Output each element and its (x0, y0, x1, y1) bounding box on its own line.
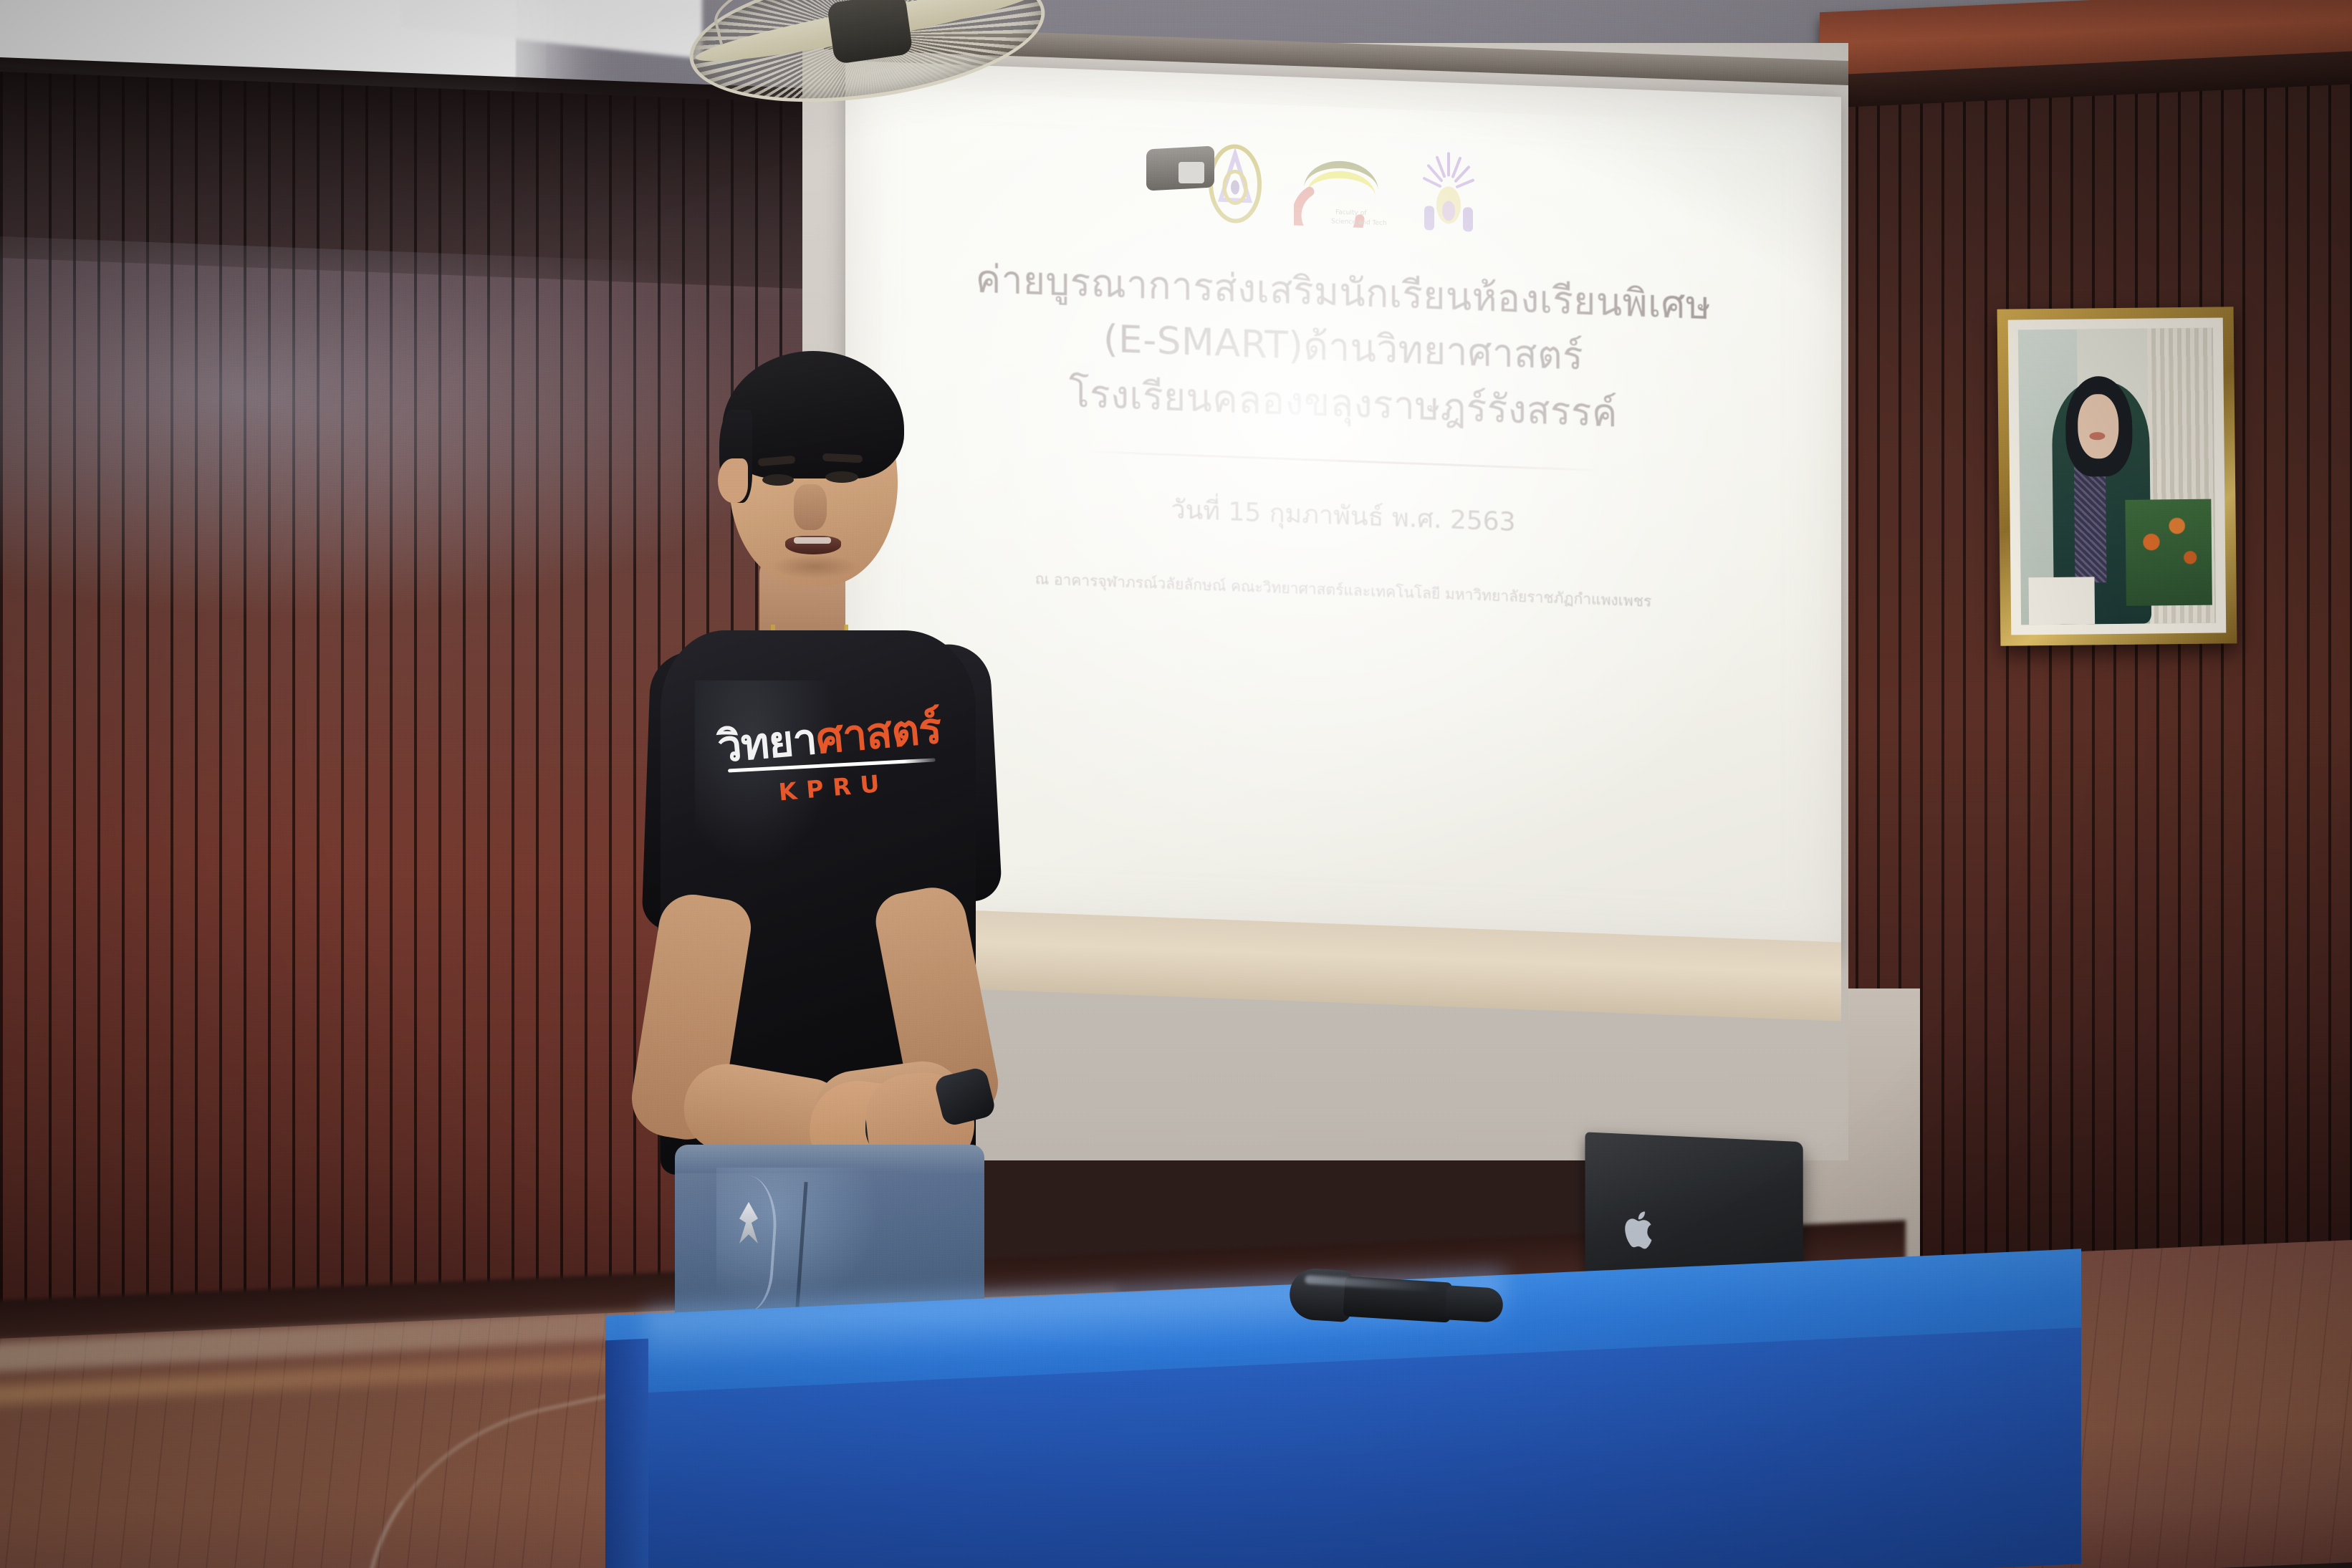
presenter-teeth (794, 537, 831, 544)
portrait-lips (2089, 432, 2105, 440)
wood-wall-upper-shadow (0, 57, 810, 289)
slide-logo-row: Faculty of Science and Technology (1208, 142, 1479, 236)
presenter-eye-left (762, 474, 794, 486)
jeans-pocket (692, 1172, 780, 1313)
kpru-seal-logo-icon (1208, 143, 1262, 228)
portrait-face (2077, 394, 2118, 459)
portrait-photo (2018, 328, 2216, 625)
faculty-science-technology-logo-icon: Faculty of Science and Technology (1294, 153, 1387, 232)
slide-divider-rule (1085, 451, 1601, 471)
microphone-tail (1444, 1285, 1504, 1323)
presenter-nose (794, 484, 827, 530)
portrait-flowers (2125, 499, 2212, 607)
smoke-detector-led (1179, 162, 1204, 183)
svg-text:Faculty of: Faculty of (1335, 209, 1367, 218)
tshirt-word-orange: ศาสตร์ (814, 703, 943, 764)
table-cloth-fold (605, 1339, 648, 1568)
presenter-eye-right (825, 471, 858, 483)
royal-radiant-emblem-logo-icon (1419, 150, 1479, 236)
presenter-chin-shadow (771, 554, 858, 579)
portrait-mat (2008, 317, 2227, 635)
tshirt-word-white: วิทยา (716, 714, 819, 773)
slide-date: วันที่ 15 กุมภาพันธ์ พ.ศ. 2563 (1171, 489, 1515, 542)
photo-scene: Faculty of Science and Technology (0, 0, 2352, 1568)
portrait-table (2028, 577, 2095, 625)
presenter-ear (718, 458, 748, 503)
presenter: วิทยาศาสตร์ KPRU (630, 344, 1146, 1382)
framed-royal-portrait (1997, 307, 2237, 645)
apple-logo-icon (1625, 1207, 1656, 1251)
